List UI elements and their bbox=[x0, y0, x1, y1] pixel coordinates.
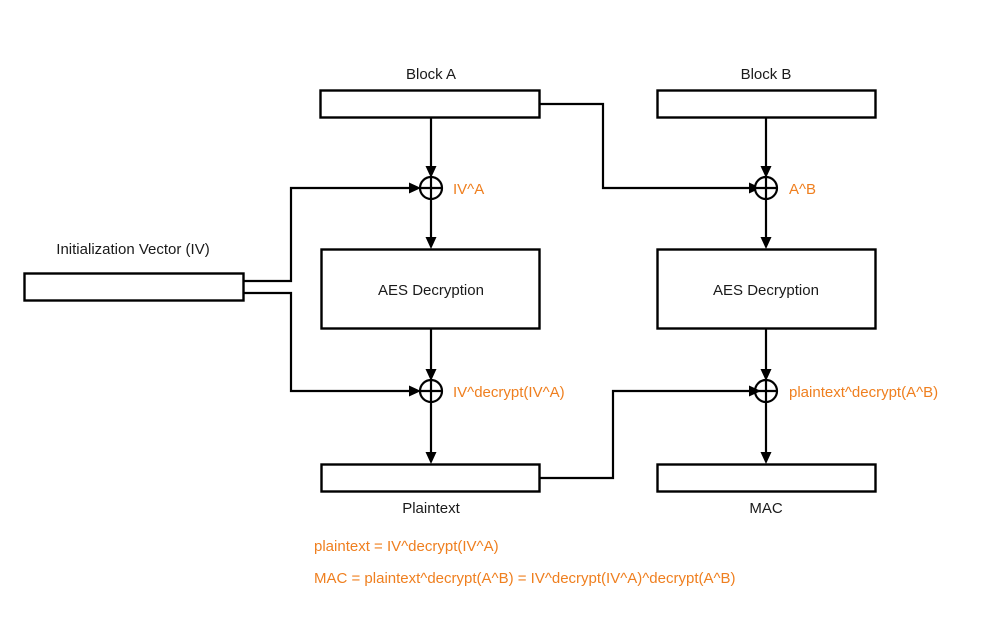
formula-mac: MAC = plaintext^decrypt(A^B) = IV^decryp… bbox=[314, 570, 736, 587]
xor-gate-bottom-left[interactable] bbox=[420, 380, 442, 402]
xor-gate-top-left[interactable] bbox=[420, 177, 442, 199]
block-b-box[interactable] bbox=[658, 91, 876, 118]
aes-decryption-right-label: AES Decryption bbox=[713, 282, 819, 299]
iv-box[interactable] bbox=[25, 274, 244, 301]
arrowhead-xor3-to-plaintext bbox=[426, 452, 437, 464]
arrowhead-xor2-to-aes-right bbox=[761, 237, 772, 249]
block-b-title: Block B bbox=[741, 66, 792, 83]
plaintext-box[interactable] bbox=[322, 465, 540, 492]
xor-top-right-label: A^B bbox=[789, 181, 816, 198]
cbc-mac-diagram: Block A Block B Initialization Vector (I… bbox=[0, 0, 987, 627]
xor-bottom-right-label: plaintext^decrypt(A^B) bbox=[789, 384, 938, 401]
formula-plaintext: plaintext = IV^decrypt(IV^A) bbox=[314, 538, 499, 555]
xor-bottom-left-label: IV^decrypt(IV^A) bbox=[453, 384, 565, 401]
arrowhead-xor4-to-mac bbox=[761, 452, 772, 464]
mac-box[interactable] bbox=[658, 465, 876, 492]
aes-decryption-left-label: AES Decryption bbox=[378, 282, 484, 299]
mac-title: MAC bbox=[749, 500, 783, 517]
arrowhead-xor1-to-aes-left bbox=[426, 237, 437, 249]
block-a-box[interactable] bbox=[321, 91, 540, 118]
diagram-canvas: Block A Block B Initialization Vector (I… bbox=[0, 0, 987, 627]
xor-top-left-label: IV^A bbox=[453, 181, 484, 198]
xor-gate-top-right[interactable] bbox=[755, 177, 777, 199]
iv-title: Initialization Vector (IV) bbox=[56, 241, 209, 258]
block-a-title: Block A bbox=[406, 66, 456, 83]
plaintext-title: Plaintext bbox=[402, 500, 460, 517]
